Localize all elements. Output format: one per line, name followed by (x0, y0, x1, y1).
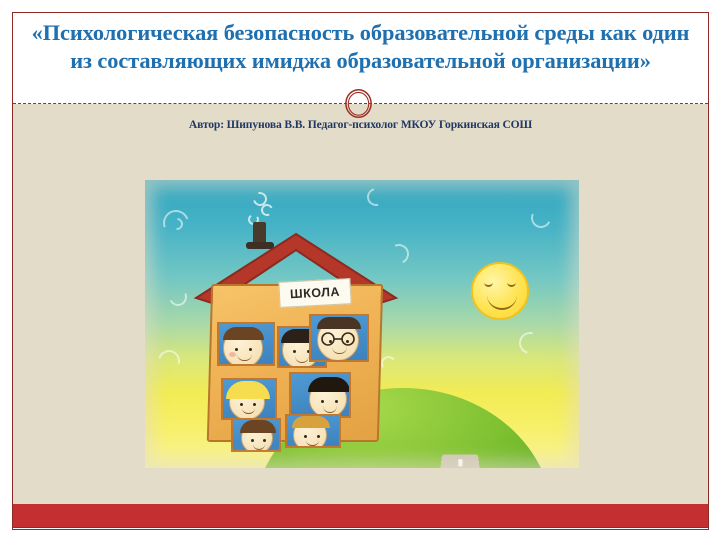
house-window (231, 418, 281, 452)
child-face (309, 380, 347, 418)
child-face (223, 328, 263, 366)
child-face (229, 384, 265, 420)
house-window (285, 414, 341, 448)
sun-face (471, 262, 529, 320)
school-house: ШКОЛА (191, 222, 401, 442)
school-sign: ШКОЛА (278, 278, 351, 308)
house-window (217, 322, 275, 366)
glasses-icon (317, 332, 361, 346)
child-face (241, 422, 273, 452)
swirl-decoration-icon (154, 346, 184, 376)
title-zone: «Психологическая безопасность образовате… (13, 13, 708, 103)
house-window (309, 314, 369, 362)
bottom-accent-bar (13, 504, 708, 528)
school-sign-label: ШКОЛА (290, 285, 341, 302)
child-face (293, 418, 327, 448)
sun-icon (445, 236, 555, 346)
slide-border-frame: «Психологическая безопасность образовате… (12, 12, 709, 530)
page-title: «Психологическая безопасность образовате… (27, 19, 694, 74)
author-subtitle: Автор: Шипунова В.В. Педагог-психолог МК… (13, 118, 708, 131)
house-window (221, 378, 277, 420)
swirl-decoration-icon (364, 185, 389, 210)
swirl-decoration-icon (528, 205, 554, 231)
road (431, 454, 488, 468)
school-illustration-image: ШКОЛА (145, 180, 579, 468)
swirl-decoration-icon (166, 285, 189, 308)
house-window (289, 372, 351, 418)
presentation-slide: «Психологическая безопасность образовате… (0, 0, 720, 540)
body-zone: Автор: Шипунова В.В. Педагог-психолог МК… (13, 104, 708, 506)
